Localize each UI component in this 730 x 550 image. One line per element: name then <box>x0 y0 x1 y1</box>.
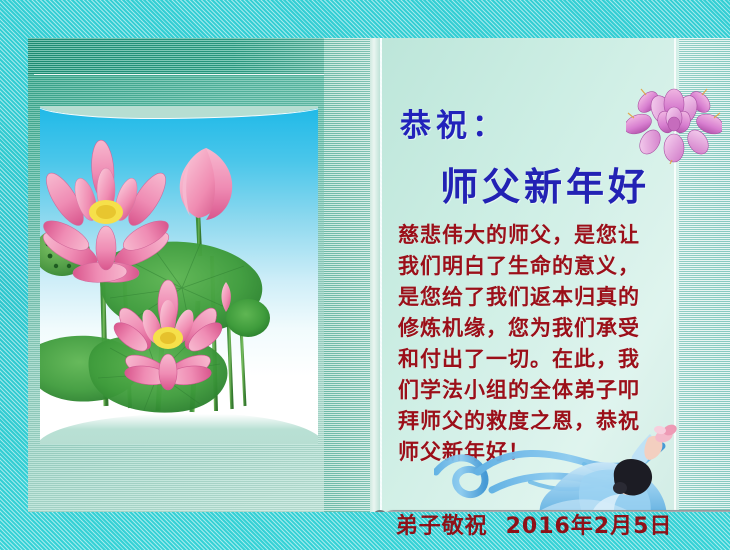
body-line: 慈悲伟大的师父，是您让 <box>398 220 698 251</box>
new-year-greeting-card: 恭祝： 师父新年好 慈悲伟大的师父，是您让 我们明白了生命的意义， 是您给了我们… <box>0 0 730 550</box>
pink-lotus-flower-icon <box>626 80 722 164</box>
lotus-bud-upper <box>180 148 232 220</box>
card-inner-panel: 恭祝： 师父新年好 慈悲伟大的师父，是您让 我们明白了生命的意义， 是您给了我们… <box>28 38 730 512</box>
lotus-artwork <box>40 106 318 444</box>
left-panel-hairline <box>34 74 364 75</box>
panel-divider-strip <box>370 38 380 512</box>
left-panel-top-band <box>28 38 370 74</box>
body-line: 和付出了一切。在此，我 <box>398 344 698 375</box>
signature-salutation: 弟子敬祝 <box>396 514 488 539</box>
greeting-salutation: 恭祝： <box>400 100 508 145</box>
body-line: 我们明白了生命的意义， <box>398 251 698 282</box>
flying-apsara-figure <box>434 416 714 512</box>
page-title: 师父新年好 <box>440 156 650 211</box>
signature-date: 2016年2月5日 <box>506 514 673 539</box>
lotus-photo <box>40 106 318 444</box>
left-panel-stripe-texture <box>324 38 370 512</box>
body-line: 修炼机缘，您为我们承受 <box>398 313 698 344</box>
body-line: 们学法小组的全体弟子叩 <box>398 375 698 406</box>
body-line: 是您给了我们返本归真的 <box>398 282 698 313</box>
signature-line-two: 弟子敬祝2016年2月5日 <box>354 508 714 540</box>
lotus-pad <box>226 299 270 337</box>
